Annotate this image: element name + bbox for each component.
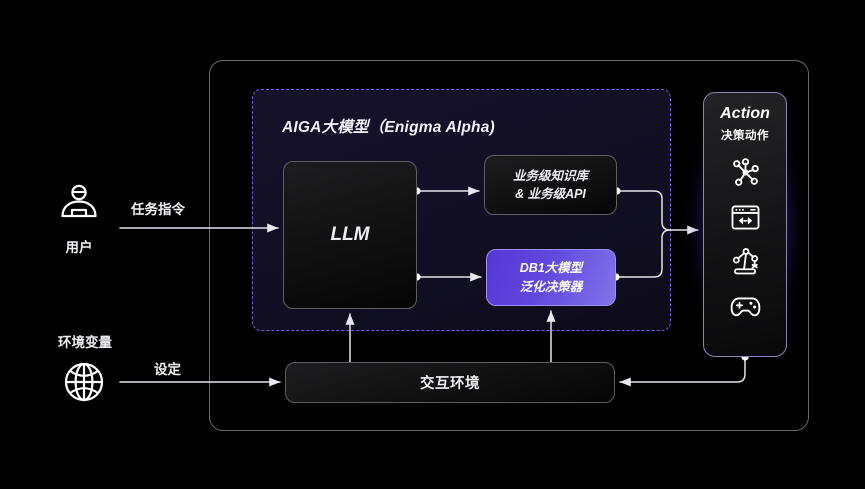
node-db1[interactable]: DB1大模型 泛化决策器 [486,249,616,306]
gamepad-icon[interactable] [727,290,763,324]
browser-window-icon[interactable] [727,200,763,234]
db1-line-2: 泛化决策器 [520,280,583,294]
env-variable-label: 环境变量 [40,331,130,351]
node-interactive-environment-label: 交互环境 [420,372,480,393]
edge-label-setting: 设定 [154,358,181,378]
node-knowledge-base[interactable]: 业务级知识库 & 业务级API [484,155,617,215]
kb-line-2: & 业务级API [515,187,586,201]
action-panel[interactable]: Action 决策动作 [703,92,787,357]
action-title-cn: 决策动作 [721,127,769,143]
robot-arm-icon[interactable] [727,245,763,279]
node-llm-label: LLM [330,224,369,246]
action-title-en: Action [720,106,770,122]
db1-line-1: DB1大模型 [520,261,583,275]
kb-line-1: 业务级知识库 [513,169,588,183]
node-interactive-environment[interactable]: 交互环境 [285,362,615,403]
node-llm[interactable]: LLM [283,161,417,309]
edge-label-task-instruction: 任务指令 [131,198,185,218]
user-label: 用户 [46,236,112,256]
node-knowledge-base-label: 业务级知识库 & 业务级API [513,167,588,203]
network-nodes-icon[interactable] [727,155,763,189]
globe-icon [62,360,106,404]
diagram-canvas: AIGA大模型（Enigma Alpha) [0,0,865,489]
action-icon-list [727,155,763,324]
aiga-title: AIGA大模型（Enigma Alpha) [282,115,495,137]
user-icon [57,183,101,227]
node-db1-label: DB1大模型 泛化决策器 [520,259,583,295]
